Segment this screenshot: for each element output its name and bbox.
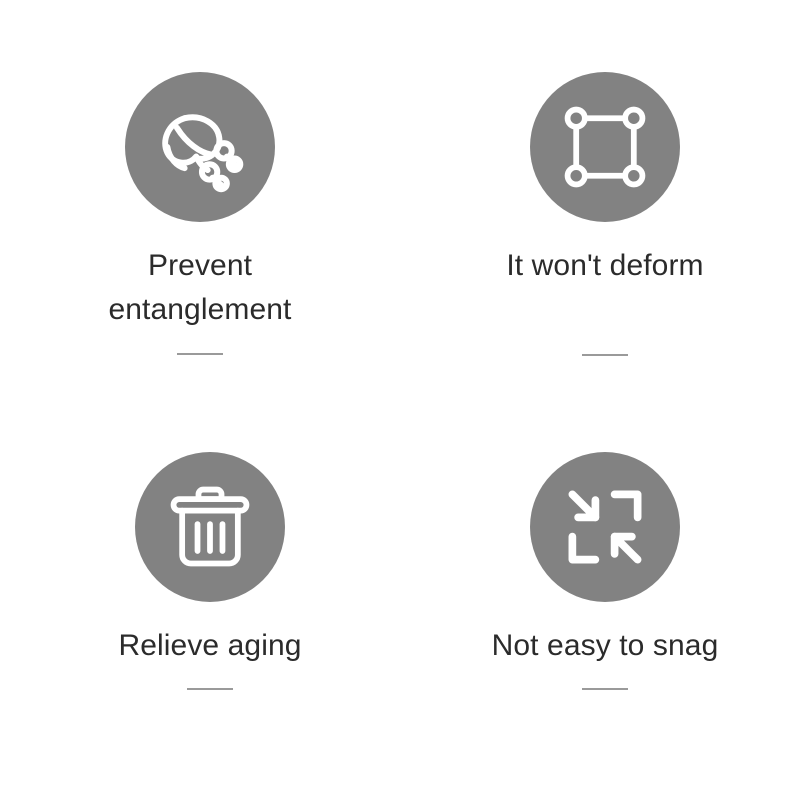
feature-divider [187, 688, 233, 690]
trash-bin-icon [162, 479, 258, 575]
tangled-cable-earphones-icon [152, 99, 248, 195]
feature-label: Prevent entanglement [30, 244, 370, 333]
feature-card-relieve-aging: Relieve aging [40, 452, 380, 690]
feature-divider [177, 353, 223, 355]
feature-divider [582, 354, 628, 356]
compress-arrows-inward-icon [557, 479, 653, 575]
feature-label: Relieve aging [40, 624, 380, 668]
icon-circle [135, 452, 285, 602]
feature-label: Not easy to snag [435, 624, 775, 668]
feature-card-wont-deform: It won't deform [435, 72, 775, 356]
feature-label: It won't deform [435, 244, 775, 288]
feature-card-not-easy-to-snag: Not easy to snag [435, 452, 775, 690]
feature-card-prevent-entanglement: Prevent entanglement [30, 72, 370, 355]
square-bounding-box-handles-icon [557, 99, 653, 195]
icon-circle [125, 72, 275, 222]
icon-circle [530, 452, 680, 602]
feature-grid: Prevent entanglement It won't deform [0, 0, 800, 800]
feature-divider [582, 688, 628, 690]
icon-circle [530, 72, 680, 222]
